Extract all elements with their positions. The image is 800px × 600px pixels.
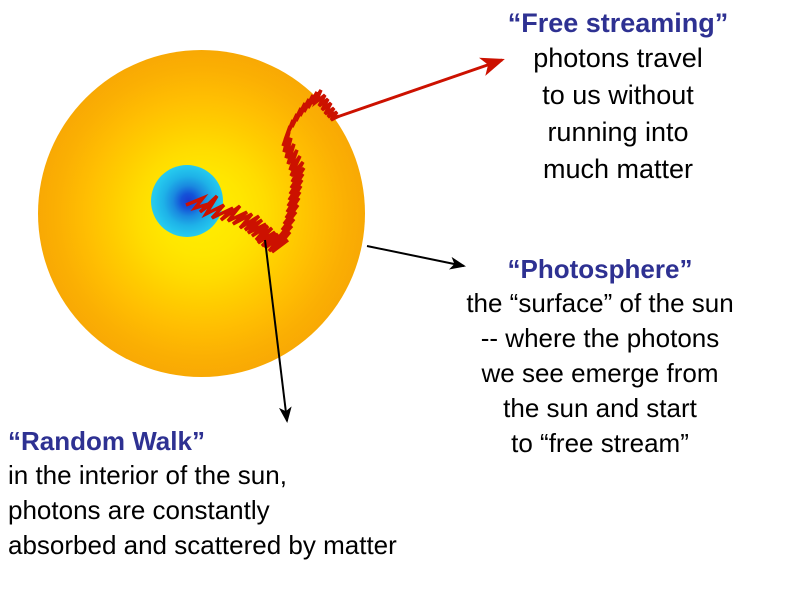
callout-free-streaming-line-4: much matter	[440, 151, 796, 188]
callout-photosphere-line-3: we see emerge from	[404, 356, 796, 391]
callout-photosphere-line-5: to “free stream”	[404, 426, 796, 461]
callout-free-streaming-heading: “Free streaming”	[440, 6, 796, 40]
callout-photosphere: “Photosphere” the “surface” of the sun -…	[404, 252, 796, 461]
sun-figure	[38, 50, 365, 377]
callout-free-streaming: “Free streaming” photons travel to us wi…	[440, 6, 796, 188]
callout-photosphere-line-1: the “surface” of the sun	[404, 286, 796, 321]
callout-free-streaming-line-1: photons travel	[440, 40, 796, 77]
callout-random-walk-line-2: photons are constantly	[8, 493, 438, 528]
callout-free-streaming-line-3: running into	[440, 114, 796, 151]
callout-photosphere-line-2: -- where the photons	[404, 321, 796, 356]
callout-random-walk-heading: “Random Walk”	[8, 424, 438, 458]
callout-random-walk-line-1: in the interior of the sun,	[8, 458, 438, 493]
callout-photosphere-heading: “Photosphere”	[404, 252, 796, 286]
callout-random-walk-line-3: absorbed and scattered by matter	[8, 528, 438, 563]
sun-core	[151, 165, 223, 237]
callout-free-streaming-line-2: to us without	[440, 77, 796, 114]
callout-random-walk: “Random Walk” in the interior of the sun…	[8, 424, 438, 563]
diagram-canvas: “Free streaming” photons travel to us wi…	[0, 0, 800, 600]
callout-photosphere-line-4: the sun and start	[404, 391, 796, 426]
